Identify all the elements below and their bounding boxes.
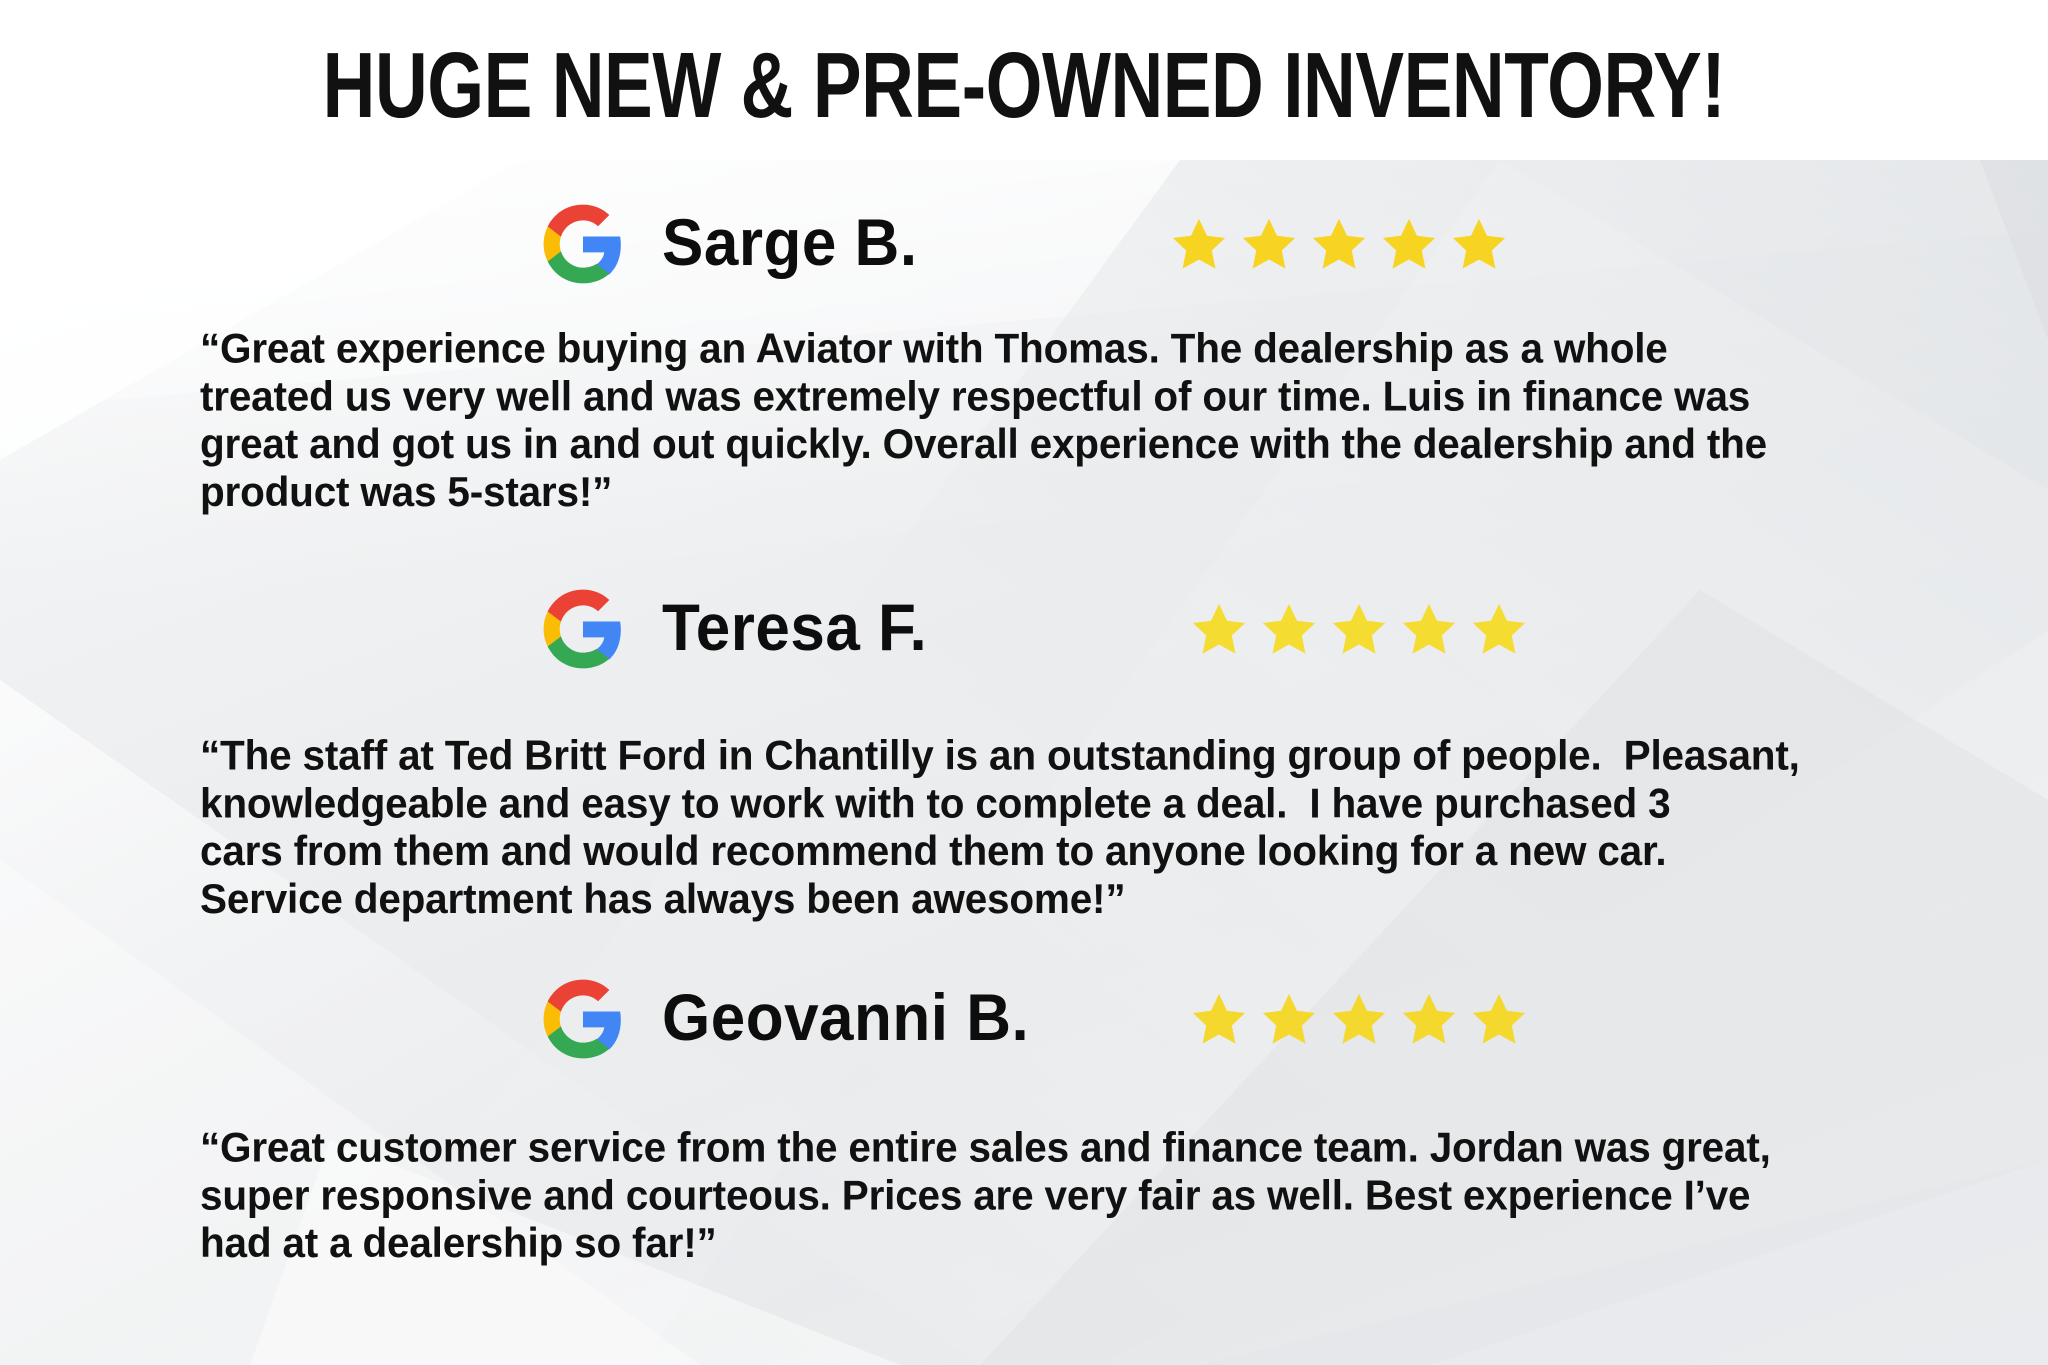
star-rating xyxy=(1190,600,1528,658)
reviewer-name: Teresa F. xyxy=(662,596,927,662)
reviewer-name: Geovanni B. xyxy=(662,986,1029,1052)
star-icon xyxy=(1400,600,1458,658)
review-header: Geovanni B. xyxy=(0,965,2048,1073)
star-rating xyxy=(1170,215,1508,273)
headline-bar: HUGE NEW & PRE-OWNED INVENTORY! xyxy=(0,0,2048,160)
star-icon xyxy=(1170,215,1228,273)
star-icon xyxy=(1330,600,1388,658)
star-icon xyxy=(1400,990,1458,1048)
star-icon xyxy=(1190,600,1248,658)
review-header: Sarge B. xyxy=(0,190,2048,298)
star-icon xyxy=(1330,990,1388,1048)
star-icon xyxy=(1260,990,1318,1048)
google-g-icon xyxy=(540,201,626,287)
star-icon xyxy=(1310,215,1368,273)
star-icon xyxy=(1190,990,1248,1048)
star-icon xyxy=(1380,215,1438,273)
reviewer-name: Sarge B. xyxy=(662,211,918,277)
review-text: “Great experience buying an Aviator with… xyxy=(0,324,2048,515)
review-card-1: Sarge B. “Great experience buying an Avi… xyxy=(0,190,2048,508)
review-text: “Great customer service from the entire … xyxy=(0,1123,2048,1267)
review-banner: HUGE NEW & PRE-OWNED INVENTORY! xyxy=(0,0,2048,1365)
review-header: Teresa F. xyxy=(0,575,2048,683)
star-rating xyxy=(1190,990,1528,1048)
star-icon xyxy=(1260,600,1318,658)
star-icon xyxy=(1470,990,1528,1048)
review-text: “The staff at Ted Britt Ford in Chantill… xyxy=(0,731,2048,922)
page-title: HUGE NEW & PRE-OWNED INVENTORY! xyxy=(323,29,1726,131)
google-g-icon xyxy=(540,586,626,672)
review-card-2: Teresa F. “The staff at Ted Britt Ford i… xyxy=(0,575,2048,915)
review-card-3: Geovanni B. “Great customer service from… xyxy=(0,965,2048,1261)
star-icon xyxy=(1240,215,1298,273)
star-icon xyxy=(1450,215,1508,273)
star-icon xyxy=(1470,600,1528,658)
google-g-icon xyxy=(540,976,626,1062)
reviews-list: Sarge B. “Great experience buying an Avi… xyxy=(0,160,2048,1365)
